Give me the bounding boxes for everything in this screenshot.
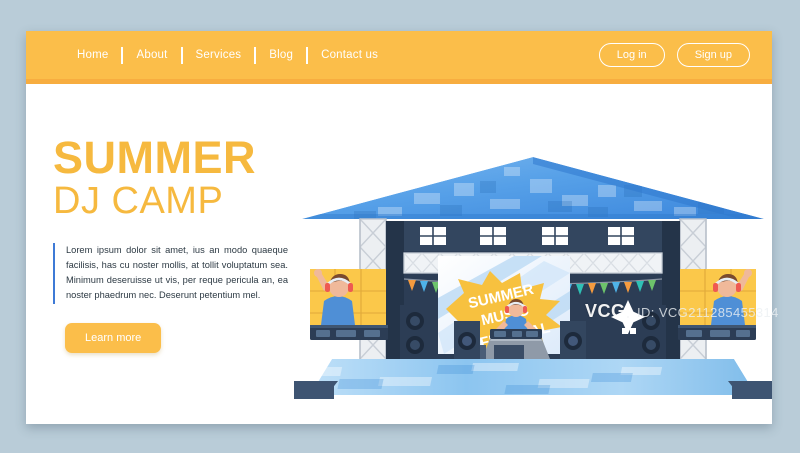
hero-text-column: SUMMER DJ CAMP Lorem ipsum dolor sit ame… <box>53 135 313 353</box>
stage-roof <box>302 157 764 219</box>
log-in-button[interactable]: Log in <box>599 43 665 67</box>
speaker-stack-right-inner <box>636 305 666 361</box>
festival-stage-illustration: SUMMER MUSIC FESTIVAL <box>294 123 772 418</box>
hero-title-sub: DJ CAMP <box>53 180 313 223</box>
nav-item-contact-us[interactable]: Contact us <box>308 49 391 61</box>
nav-links: Home About Services Blog Contact us <box>64 47 391 64</box>
speaker-stack-left-inner <box>400 305 430 361</box>
nav-item-home[interactable]: Home <box>64 49 121 61</box>
nav-actions: Log in Sign up <box>599 31 750 79</box>
speaker-stack-center-left <box>454 321 480 361</box>
learn-more-button[interactable]: Learn more <box>65 323 161 353</box>
speaker-stack-center-right <box>560 321 586 361</box>
hero-title-main: SUMMER <box>53 135 313 182</box>
hero-paragraph: Lorem ipsum dolor sit amet, ius an modo … <box>53 243 288 303</box>
nav-item-services[interactable]: Services <box>183 49 255 61</box>
stage-floor <box>294 359 756 395</box>
nav-item-about[interactable]: About <box>123 49 180 61</box>
landing-page-card: Home About Services Blog Contact us Log … <box>26 31 772 424</box>
navbar: Home About Services Blog Contact us Log … <box>26 31 772 79</box>
navbar-underline <box>26 79 772 84</box>
sign-up-button[interactable]: Sign up <box>677 43 750 67</box>
screenshot-root: Home About Services Blog Contact us Log … <box>0 0 800 453</box>
nav-item-blog[interactable]: Blog <box>256 49 306 61</box>
